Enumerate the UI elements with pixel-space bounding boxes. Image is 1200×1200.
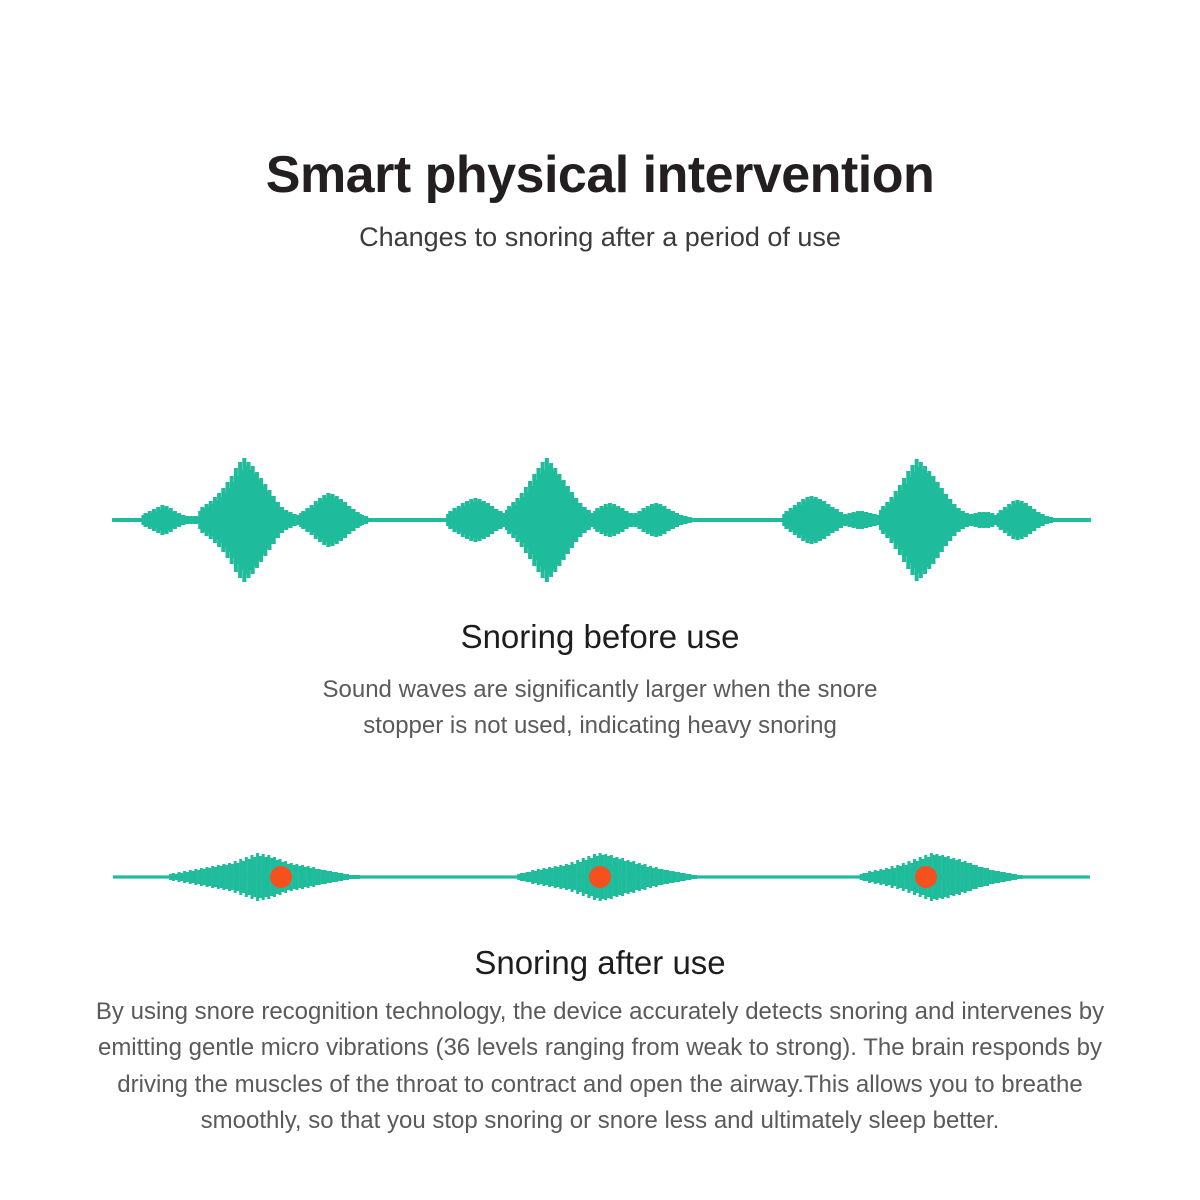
waveform-bar [298,866,301,888]
waveform-bar [236,863,239,891]
page-title: Smart physical intervention [0,148,1200,203]
waveform-bar [534,871,537,883]
waveform-bar [248,859,251,895]
waveform-bar [1000,872,1003,882]
caption-body-before: Sound waves are significantly larger whe… [220,672,980,745]
waveform-bar [192,871,195,883]
waveform-bar [582,858,585,896]
waveform-bar [882,870,885,884]
waveform-bar [891,866,894,888]
waveform-bar [332,872,335,882]
waveform-bar [629,862,632,892]
waveform-bar [211,866,214,888]
waveform-bar [860,874,863,880]
waveform-bar [680,873,683,881]
waveform-bar [542,868,545,886]
waveform-bar [256,853,259,901]
waveform-bar [565,864,568,890]
waveform-bar [1008,873,1011,881]
waveform-bar [649,866,652,888]
waveform-bar [660,869,663,885]
waveform-bar [674,872,677,882]
waveform-bar [972,865,975,889]
waveform-bar [265,857,268,897]
waveform-bar [992,870,995,884]
waveform-after-use [0,846,1200,910]
waveform-bar [910,863,913,891]
waveform-bar [548,867,551,887]
waveform-bar [877,871,880,883]
waveform-bar [222,864,225,890]
waveform-bar [658,869,661,885]
waveform-before-use-svg [0,448,1200,598]
waveform-bar [231,864,234,890]
waveform-bar [613,858,616,896]
waveform-bar [323,870,326,884]
waveform-bar [663,870,666,884]
waveform-bar [621,858,624,896]
waveform-bar [646,867,649,887]
caption-before-use: Snoring before use Sound waves are signi… [0,618,1200,745]
waveform-bar [523,873,526,881]
waveform-bar [318,869,321,885]
waveform-bar [194,869,197,885]
waveform-bar [632,861,635,893]
waveform-bar [346,874,349,880]
waveform-bar [177,872,180,882]
waveform-bar [627,860,630,894]
waveform-bar [902,863,905,891]
waveform-bar [994,871,997,883]
waveform-bar [983,868,986,886]
waveform-bar [571,862,574,892]
waveform-bar [997,871,1000,883]
waveform-bar [309,868,312,886]
waveform-bar [980,867,983,887]
waveform-bar [885,868,888,886]
waveform-bar [253,857,256,897]
waveform-bar [871,872,874,882]
waveform-bar [551,868,554,886]
waveform-bar [343,874,346,880]
waveform-bar [307,866,310,888]
waveform-bar [304,867,307,887]
waveform-bar [326,871,329,883]
waveform-bar [175,874,178,880]
waveform-bar [562,866,565,888]
waveform-bar [576,860,579,894]
waveform-bar [899,866,902,888]
waveform-bar [1017,875,1020,879]
waveform-bar [691,875,694,879]
waveform-bar [349,875,352,879]
waveform-bar [259,856,262,898]
waveform-bar [540,870,543,884]
waveform-bar [338,873,341,881]
vibration-intervention-point-1 [270,866,292,888]
waveform-bar [986,868,989,886]
waveform-bar [554,866,557,888]
waveform-bar [197,870,200,884]
waveform-bar [1020,875,1023,879]
waveform-bar [961,862,964,892]
waveform-bar [989,870,992,884]
waveform-bar [183,871,186,883]
waveform-bar [641,865,644,889]
waveform-bar [528,872,531,882]
waveform-bar [321,870,324,884]
waveform-bar [295,864,298,890]
waveform-bar [964,861,967,893]
waveform-bar [669,871,672,883]
vibration-intervention-point-2 [589,866,611,888]
waveform-bar [958,859,961,895]
waveform-bar [947,856,950,898]
caption-heading-before: Snoring before use [0,618,1200,656]
waveform-bar [874,870,877,884]
waveform-bar [688,874,691,880]
waveform-bar [531,870,534,884]
page-subtitle: Changes to snoring after a period of use [0,223,1200,253]
waveform-bar [526,872,529,882]
waveform-bar [335,872,338,882]
waveform-bar [228,863,231,891]
waveform-bar [952,858,955,896]
header: Smart physical intervention Changes to s… [0,148,1200,252]
waveform-after-use-svg [0,846,1200,910]
waveform-bar [879,869,882,885]
waveform-bar [1011,874,1014,880]
waveform-bar [517,874,520,880]
waveform-bar [1014,874,1017,880]
vibration-intervention-point-3 [915,866,937,888]
waveform-bar [863,873,866,881]
waveform-bar [301,865,304,889]
waveform-bar [556,867,559,887]
waveform-bar [559,865,562,889]
waveform-bar [245,857,248,897]
waveform-bar [938,856,941,898]
waveform-bar [615,857,618,897]
waveform-bar [975,865,978,889]
waveform-bar [329,871,332,883]
waveform-bar [208,868,211,886]
waveform-bar [966,863,969,891]
waveform-bar [865,873,868,881]
waveform-bar [655,867,658,887]
waveform-bar [1006,873,1009,881]
waveform-bar [352,875,355,879]
waveform-bar [537,869,540,885]
waveform-bar [677,872,680,882]
waveform-bar [955,860,958,894]
waveform-bar [683,873,686,881]
waveform-bar [638,863,641,891]
waveform-bar [1087,518,1091,522]
waveform-bars [112,458,1091,582]
waveform-bar [172,873,175,881]
waveform-bar [340,873,343,881]
waveform-bar [1003,872,1006,882]
waveform-bar [206,867,209,887]
waveform-bar [585,860,588,894]
waveform-bar [568,865,571,889]
waveform-before-use [0,448,1200,598]
waveform-bar [242,861,245,893]
waveform-bar [189,870,192,884]
waveform-bar [225,865,228,889]
waveform-bar [652,868,655,886]
waveform-bar [944,857,947,897]
waveform-bar [666,870,669,884]
waveform-bar [624,861,627,893]
waveform-bar [978,867,981,887]
waveform-bar [905,865,908,889]
waveform-bar [969,863,972,891]
waveform-bar [239,859,242,895]
waveform-bar [686,874,689,880]
waveform-bar [180,873,183,881]
waveform-bar [907,861,910,893]
waveform-bar [672,871,675,883]
caption-body-after: By using snore recognition technology, t… [65,994,1135,1140]
poster-root: Smart physical intervention Changes to s… [0,0,1200,1200]
waveform-bar [354,875,357,879]
waveform-bar [234,861,237,893]
waveform-bar [694,875,697,879]
waveform-bar [941,855,944,899]
waveform-bar [520,873,523,881]
caption-after-use: Snoring after use By using snore recogni… [0,944,1200,1140]
waveform-bar [573,864,576,890]
waveform-bar [312,867,315,887]
waveform-bar [357,875,360,879]
waveform-bar [618,859,621,895]
caption-heading-after: Snoring after use [0,944,1200,982]
waveform-bar [950,859,953,895]
waveform-bar [169,874,172,880]
waveform-bar [217,865,220,889]
waveform-bar [293,865,296,889]
waveform-bar [250,855,253,899]
waveform-bar [203,869,206,885]
waveform-bar [545,869,548,885]
waveform-bar [267,855,270,899]
waveform-bar [220,866,223,888]
waveform-bar [896,865,899,889]
waveform-bar [200,868,203,886]
waveform-bar [893,868,896,886]
waveform-bar [579,862,582,892]
waveform-bar [635,864,638,890]
waveform-bar [186,872,189,882]
waveform-bar [315,869,318,885]
waveform-bar [868,871,871,883]
waveform-bar [214,867,217,887]
waveform-bar [888,869,891,885]
waveform-bar [262,854,265,900]
waveform-bar [644,864,647,890]
